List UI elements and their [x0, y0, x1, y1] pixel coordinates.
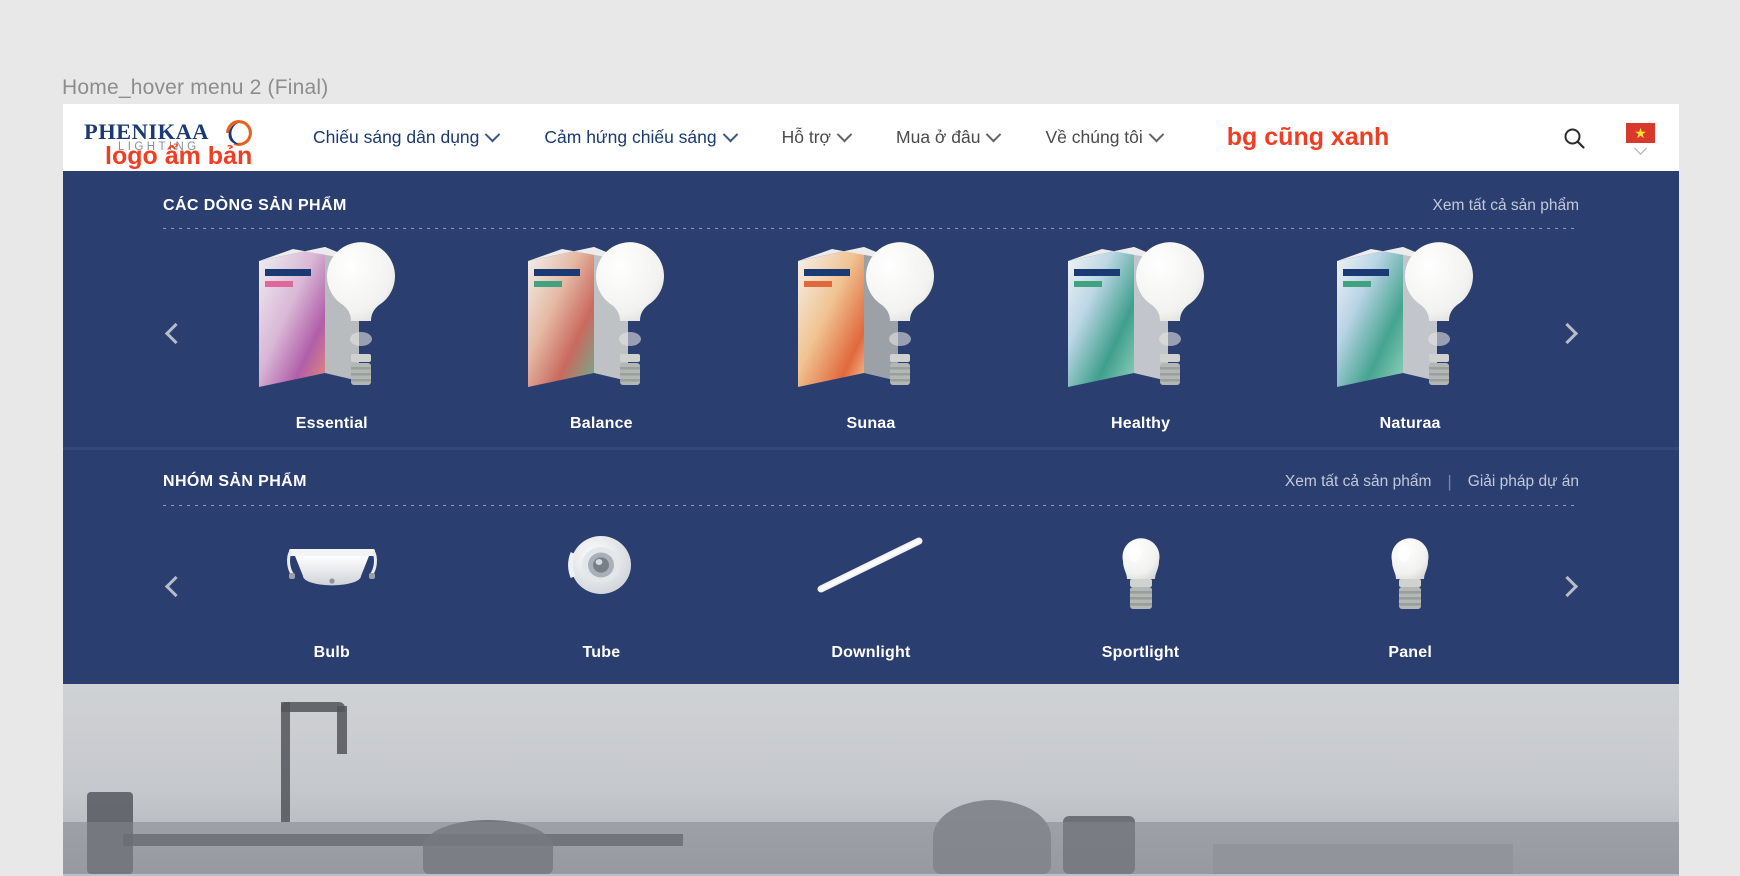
chevron-left-icon[interactable]	[153, 311, 197, 355]
chevron-down-icon	[986, 127, 1002, 143]
product-group-tube[interactable]: Tube	[501, 510, 701, 662]
product-line-healthy[interactable]: Healthy	[1041, 233, 1241, 433]
nav-label: Cảm hứng chiếu sáng	[544, 127, 716, 148]
photo-detail	[281, 702, 345, 712]
product-group-panel[interactable]: Panel	[1310, 510, 1510, 662]
product-group-sportlight[interactable]: Sportlight	[1041, 510, 1241, 662]
main-nav: Chiếu sáng dân dụng Cảm hứng chiếu sáng …	[290, 123, 1389, 152]
recessed-downlight-icon	[277, 510, 387, 620]
product-line-label: Healthy	[1111, 415, 1170, 433]
spotlight-fixture-icon	[556, 510, 646, 620]
link-project-solutions[interactable]: Giải pháp dự án	[1468, 473, 1579, 491]
language-selector[interactable]: ★	[1626, 123, 1655, 153]
chevron-down-icon	[1149, 127, 1165, 143]
product-group-downlight[interactable]: Downlight	[771, 510, 971, 662]
photo-detail	[337, 706, 347, 754]
carousel-items: Bulb	[197, 510, 1545, 662]
bulb-box-warm-icon	[516, 233, 686, 401]
link-separator: |	[1447, 472, 1451, 492]
nav-item-ho-tro[interactable]: Hỗ trợ	[759, 127, 873, 148]
product-group-label: Bulb	[314, 644, 350, 662]
site-header: PHENIKAA LIGHTING logo ẩm bản Chiếu sáng…	[63, 104, 1679, 171]
product-line-essential[interactable]: Essential	[232, 233, 432, 433]
product-groups-carousel: Bulb	[153, 510, 1589, 662]
product-group-bulb[interactable]: Bulb	[232, 510, 432, 662]
logo[interactable]: PHENIKAA LIGHTING logo ẩm bản	[84, 104, 259, 171]
section-links: Xem tất cả sản phẩm	[1433, 197, 1579, 215]
led-bulb-icon	[1375, 510, 1445, 620]
product-line-sunaa[interactable]: Sunaa	[771, 233, 971, 433]
nav-item-chieu-sang-dan-dung[interactable]: Chiếu sáng dân dụng	[290, 127, 521, 148]
product-line-balance[interactable]: Balance	[501, 233, 701, 433]
tube-light-icon	[811, 510, 931, 620]
chevron-right-icon[interactable]	[1545, 564, 1589, 608]
product-line-label: Naturaa	[1380, 415, 1441, 433]
bulb-box-orange-icon	[786, 233, 956, 401]
product-line-label: Balance	[570, 415, 633, 433]
bulb-box-teal-icon	[1325, 233, 1495, 401]
section-divider	[163, 228, 1579, 229]
section-header: CÁC DÒNG SẢN PHẨM Xem tất cả sản phẩm	[153, 197, 1589, 215]
logo-annotation: logo ẩm bản	[105, 142, 252, 171]
carousel-items: Essential	[197, 233, 1545, 433]
bulb-box-green-icon	[1056, 233, 1226, 401]
product-line-naturaa[interactable]: Naturaa	[1310, 233, 1510, 433]
product-lines-carousel: Essential	[153, 233, 1589, 433]
product-line-label: Sunaa	[846, 415, 895, 433]
nav-label: Mua ở đâu	[896, 127, 980, 148]
photo-detail	[63, 822, 1679, 874]
section-product-groups: NHÓM SẢN PHẨM Xem tất cả sản phẩm | Giải…	[63, 450, 1679, 684]
section-title: NHÓM SẢN PHẨM	[163, 473, 307, 491]
header-annotation: bg cũng xanh	[1227, 123, 1390, 152]
product-line-label: Essential	[296, 415, 368, 433]
vietnam-flag-icon: ★	[1626, 123, 1655, 143]
chevron-right-icon[interactable]	[1545, 311, 1589, 355]
section-product-lines: CÁC DÒNG SẢN PHẨM Xem tất cả sản phẩm	[63, 171, 1679, 447]
led-bulb-icon	[1106, 510, 1176, 620]
flag-star: ★	[1634, 126, 1647, 140]
chevron-down-icon	[837, 127, 853, 143]
photo-detail	[281, 702, 290, 822]
chevron-down-icon	[722, 127, 738, 143]
bulb-box-purple-icon	[247, 233, 417, 401]
nav-item-mua-o-dau[interactable]: Mua ở đâu	[873, 127, 1022, 148]
canvas-title: Home_hover menu 2 (Final)	[62, 76, 328, 100]
section-header: NHÓM SẢN PHẨM Xem tất cả sản phẩm | Giải…	[153, 472, 1589, 492]
link-view-all-products[interactable]: Xem tất cả sản phẩm	[1433, 197, 1579, 215]
section-divider	[163, 505, 1579, 506]
nav-item-ve-chung-toi[interactable]: Về chúng tôi	[1022, 127, 1184, 148]
browser-frame: PHENIKAA LIGHTING logo ẩm bản Chiếu sáng…	[63, 104, 1679, 876]
nav-item-cam-hung-chieu-sang[interactable]: Cảm hứng chiếu sáng	[521, 127, 758, 148]
nav-label: Chiếu sáng dân dụng	[313, 127, 479, 148]
section-links: Xem tất cả sản phẩm | Giải pháp dự án	[1285, 472, 1579, 492]
link-view-all-products[interactable]: Xem tất cả sản phẩm	[1285, 473, 1431, 491]
nav-label: Về chúng tôi	[1045, 127, 1142, 148]
chevron-down-icon	[1634, 142, 1647, 155]
product-group-label: Downlight	[831, 644, 910, 662]
chevron-left-icon[interactable]	[153, 564, 197, 608]
product-group-label: Sportlight	[1102, 644, 1180, 662]
search-icon[interactable]	[1562, 126, 1586, 150]
nav-label: Hỗ trợ	[782, 127, 831, 148]
section-title: CÁC DÒNG SẢN PHẨM	[163, 197, 347, 215]
product-group-label: Panel	[1388, 644, 1432, 662]
header-actions: ★	[1562, 104, 1655, 171]
mega-menu-panel: CÁC DÒNG SẢN PHẨM Xem tất cả sản phẩm	[63, 171, 1679, 684]
kitchen-interior-photo	[63, 684, 1679, 874]
chevron-down-icon	[485, 127, 501, 143]
product-group-label: Tube	[582, 644, 620, 662]
